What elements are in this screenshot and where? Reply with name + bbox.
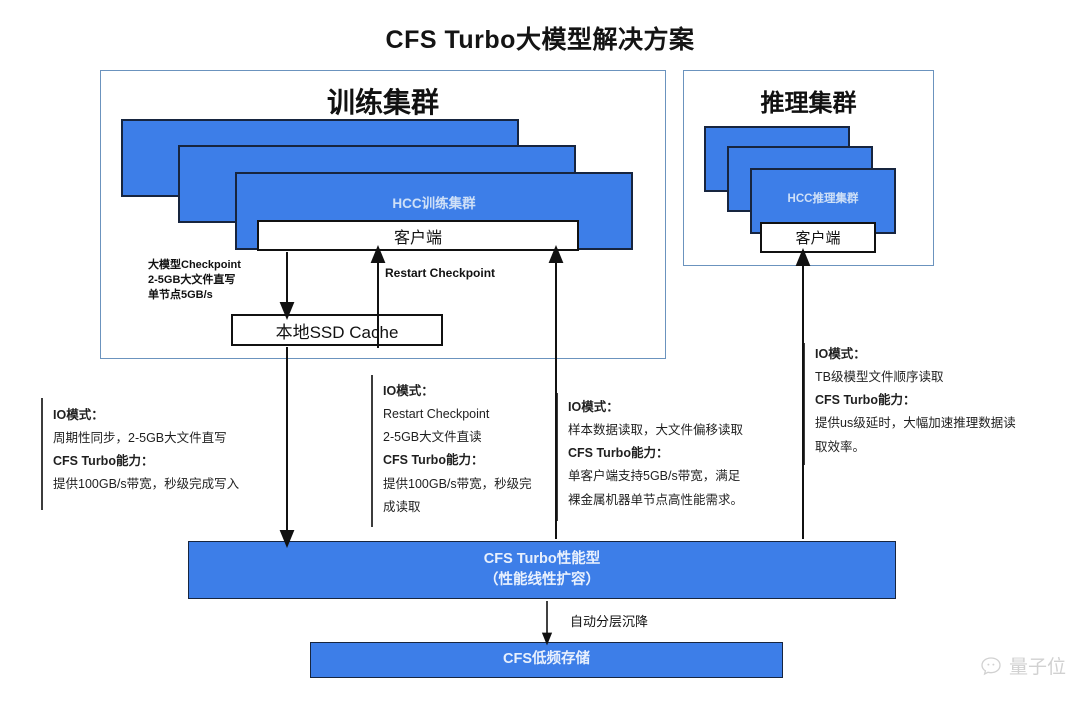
annotation-3-io-header: IO模式： (568, 396, 783, 419)
annotation-4-io-line-1: TB级模型文件顺序读取 (815, 366, 1055, 389)
annotation-3-cap-header: CFS Turbo能力： (568, 442, 783, 465)
annotation-1-cap-header: CFS Turbo能力： (53, 450, 303, 473)
annotation-4-io-header: IO模式： (815, 343, 1055, 366)
checkpoint-note: 大模型Checkpoint 2-5GB大文件直写 单节点5GB/s (148, 258, 298, 303)
watermark-text: 量子位 (1009, 652, 1066, 679)
annotation-1-io-line-1: 周期性同步，2-5GB大文件直写 (53, 427, 303, 450)
annotation-3-io-line-1: 样本数据读取，大文件偏移读取 (568, 419, 783, 442)
annotation-2-io-line-1: Restart Checkpoint (383, 403, 563, 426)
annotation-2-io-header: IO模式： (383, 380, 563, 403)
cfs-turbo-line-1: CFS Turbo性能型 (484, 549, 601, 570)
diagram-canvas: CFS Turbo大模型解决方案 训练集群 HCC训练集群 客户端 推理集群 H… (0, 0, 1080, 701)
tiering-label: 自动分层沉降 (570, 611, 648, 630)
annotation-1-cap-line-1: 提供100GB/s带宽，秒级完成写入 (53, 473, 303, 496)
annotation-4-cap-header: CFS Turbo能力： (815, 389, 1055, 412)
cfs-low-freq-label: CFS低频存储 (503, 649, 590, 670)
annotation-4-cap-line-2: 取效率。 (815, 436, 1055, 459)
checkpoint-note-line2: 2-5GB大文件直写 (148, 273, 298, 288)
annotation-block-1: IO模式： 周期性同步，2-5GB大文件直写 CFS Turbo能力： 提供10… (53, 404, 303, 497)
cfs-turbo-line-2: （性能线性扩容） (484, 570, 600, 591)
restart-checkpoint-label: Restart Checkpoint (385, 266, 495, 280)
chat-bubble-icon (980, 656, 1002, 676)
annotation-4-cap-line-1: 提供us级延时，大幅加速推理数据读 (815, 412, 1055, 435)
checkpoint-note-line1: 大模型Checkpoint (148, 258, 298, 273)
annotation-block-2: IO模式： Restart Checkpoint 2-5GB大文件直读 CFS … (383, 380, 563, 519)
cfs-turbo-performance-bar: CFS Turbo性能型 （性能线性扩容） (188, 541, 896, 599)
annotation-2-io-line-2: 2-5GB大文件直读 (383, 426, 563, 449)
training-cluster-title: 训练集群 (101, 81, 665, 121)
annotation-rule-3 (556, 393, 558, 521)
annotation-rule-2 (371, 375, 373, 527)
annotation-2-cap-line-2: 成读取 (383, 496, 563, 519)
annotation-2-cap-header: CFS Turbo能力： (383, 449, 563, 472)
watermark: 量子位 (980, 652, 1066, 679)
inference-client-box: 客户端 (760, 222, 876, 253)
training-node-label: HCC训练集群 (237, 192, 631, 212)
annotation-1-io-header: IO模式： (53, 404, 303, 427)
local-ssd-cache-box: 本地SSD Cache (231, 314, 443, 346)
inference-node-label: HCC推理集群 (752, 190, 894, 206)
annotation-3-cap-line-1: 单客户端支持5GB/s带宽，满足 (568, 465, 783, 488)
annotation-block-4: IO模式： TB级模型文件顺序读取 CFS Turbo能力： 提供us级延时，大… (815, 343, 1055, 459)
annotation-rule-4 (803, 343, 805, 465)
annotation-2-cap-line-1: 提供100GB/s带宽，秒级完 (383, 473, 563, 496)
annotation-block-3: IO模式： 样本数据读取，大文件偏移读取 CFS Turbo能力： 单客户端支持… (568, 396, 783, 512)
page-title: CFS Turbo大模型解决方案 (0, 20, 1080, 56)
annotation-rule-1 (41, 398, 43, 510)
training-client-box: 客户端 (257, 220, 579, 251)
inference-cluster-title: 推理集群 (684, 83, 933, 118)
checkpoint-note-line3: 单节点5GB/s (148, 288, 298, 303)
annotation-3-cap-line-2: 裸金属机器单节点高性能需求。 (568, 489, 783, 512)
cfs-low-frequency-bar: CFS低频存储 (310, 642, 783, 678)
